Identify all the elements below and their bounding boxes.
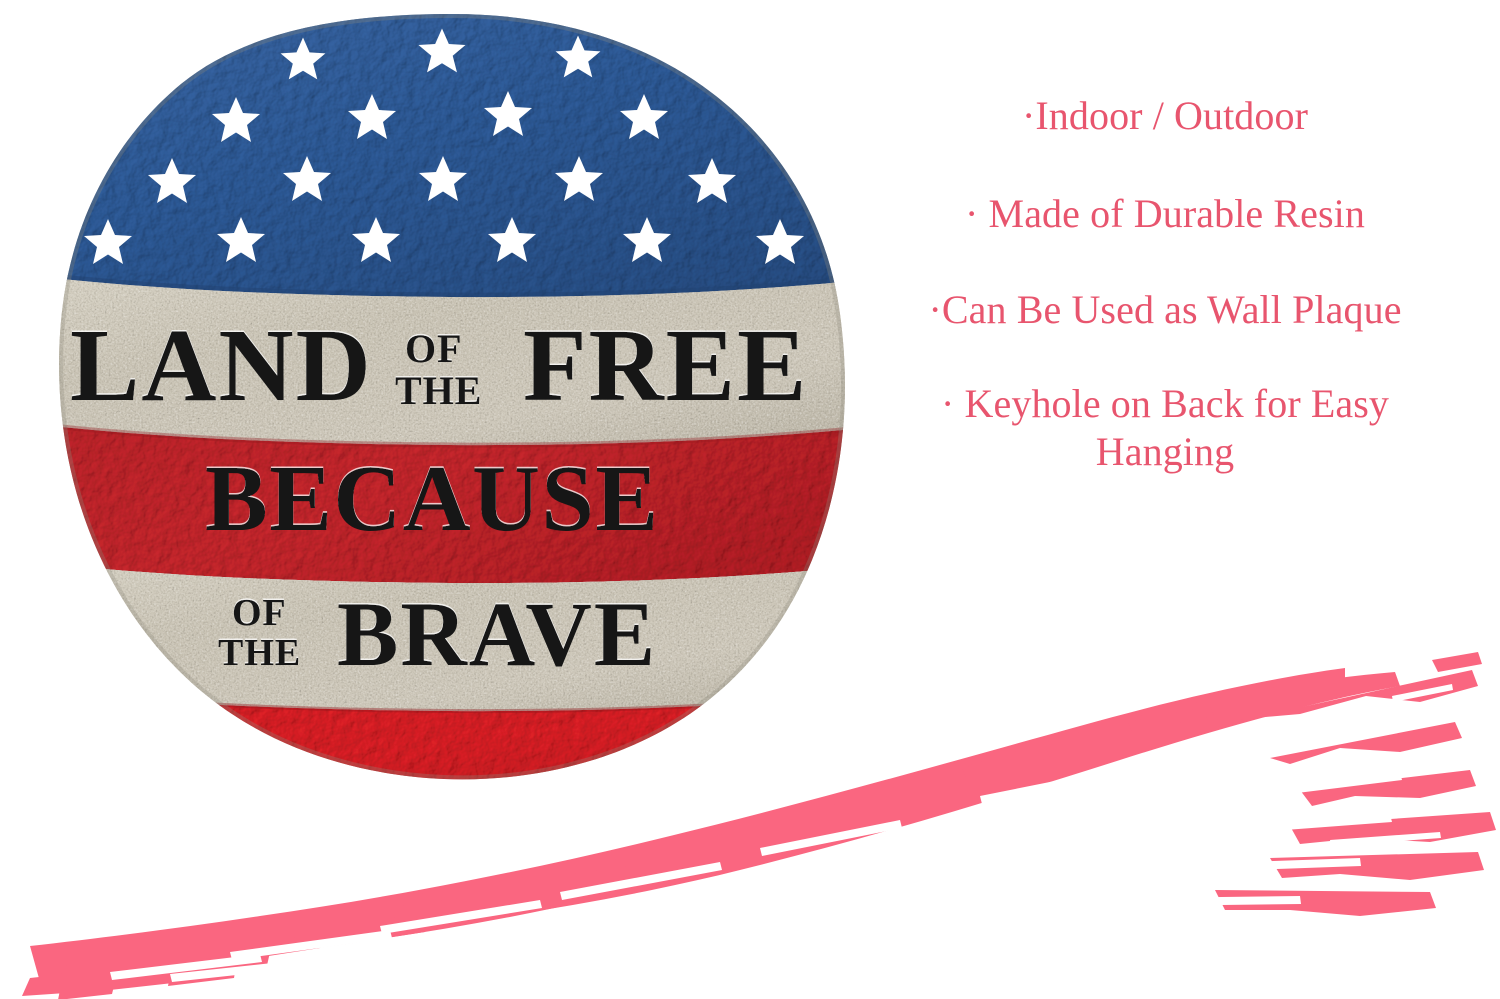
product-image-canvas: LAND OF THE FREE BECAUSE OF THE BRAVE [0, 0, 1500, 999]
feature-bullet-indoor-outdoor: ·Indoor / Outdoor [855, 92, 1475, 140]
engraving-line1-free: FREE [523, 308, 808, 423]
engraving-line3-the: THE [218, 632, 301, 674]
feature-bullet-keyhole-hanging: · Keyhole on Back for Easy Hanging [855, 380, 1475, 476]
feature-bullet-list: ·Indoor / Outdoor · Made of Durable Resi… [855, 92, 1475, 476]
engraving-line3-brave: BRAVE [337, 583, 657, 685]
product-photo: LAND OF THE FREE BECAUSE OF THE BRAVE [0, 0, 900, 820]
engraving-line2-because: BECAUSE [205, 447, 660, 551]
engraving-line3-of: OF [232, 592, 287, 634]
engraving-line1-of: OF [405, 326, 463, 371]
stone-plaque-body: LAND OF THE FREE BECAUSE OF THE BRAVE [0, 0, 900, 820]
engraving-line1-land: LAND [70, 308, 373, 423]
engraving-line1-the: THE [395, 368, 482, 413]
feature-bullet-wall-plaque: ·Can Be Used as Wall Plaque [855, 286, 1475, 334]
feature-bullet-durable-resin: · Made of Durable Resin [855, 190, 1475, 238]
